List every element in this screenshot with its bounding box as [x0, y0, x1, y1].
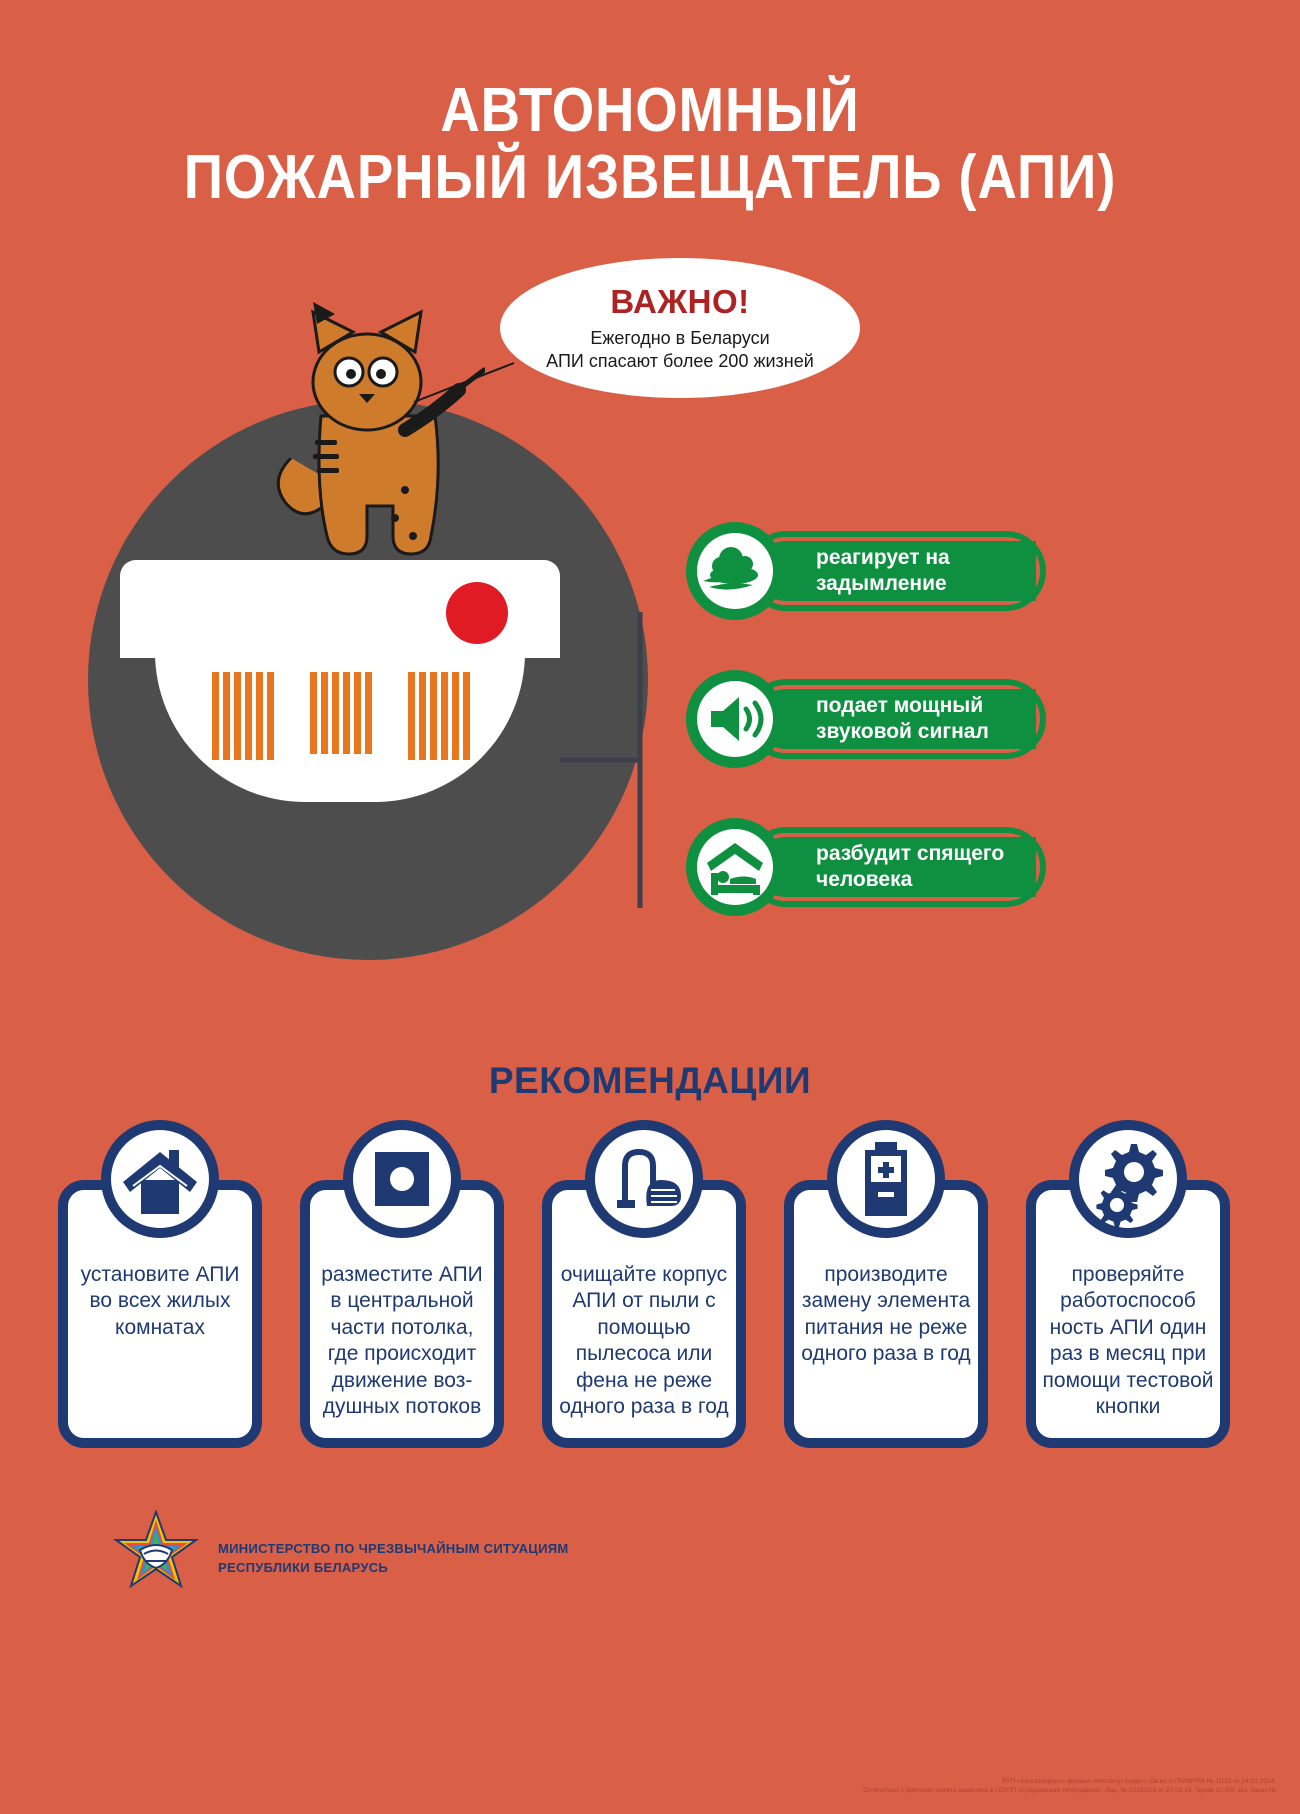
feature-line-2: звуковой сигнал — [816, 720, 989, 743]
cat-mascot-icon — [255, 290, 485, 590]
loudspeaker-icon — [697, 681, 773, 757]
connector-lines — [560, 590, 680, 930]
recommendation-text: очищайте корпус АПИ от пыли с помощью пы… — [558, 1262, 730, 1421]
important-callout-bubble: ВАЖНО! Ежегодно в Беларуси АПИ спасают б… — [500, 258, 860, 398]
house-icon — [111, 1130, 209, 1228]
recommendation-badge — [585, 1120, 703, 1238]
ministry-name: МИНИСТЕРСТВО ПО ЧРЕЗВЫЧАЙНЫМ СИТУАЦИЯМ Р… — [218, 1540, 569, 1578]
detector-vent-slot — [408, 672, 470, 760]
feature-line-1: подает мощный — [816, 694, 983, 717]
recommendation-badge — [1069, 1120, 1187, 1238]
title-line-1: АВТОНОМНЫЙ — [440, 76, 859, 145]
fineprint-line-2: Отпечатано с оригинал-макета заказчика в… — [516, 1786, 1276, 1796]
recommendation-text: установите АПИ во всех жилых комнатах — [74, 1262, 246, 1341]
recommendation-badge — [343, 1120, 461, 1238]
detector-vent-slot — [212, 672, 274, 760]
feature-line-1: разбудит спящего — [816, 842, 1004, 865]
feature-row-sound[interactable]: подает мощный звуковой сигнал — [686, 670, 1046, 768]
battery-icon — [837, 1130, 935, 1228]
feature-line-1: реагирует на — [816, 546, 950, 569]
gears-icon — [1079, 1130, 1177, 1228]
ministry-line-1: МИНИСТЕРСТВО ПО ЧРЕЗВЫЧАЙНЫМ СИТУАЦИЯМ — [218, 1540, 569, 1559]
recommendation-cards: установите АПИ во всех жилых комнатах ра… — [58, 1120, 1248, 1450]
smoke-cloud-icon — [697, 533, 773, 609]
poster-canvas: АВТОНОМНЫЙ ПОЖАРНЫЙ ИЗВЕЩАТЕЛЬ (АПИ) — [0, 0, 1300, 1814]
ministry-line-2: РЕСПУБЛИКИ БЕЛАРУСЬ — [218, 1559, 569, 1578]
sleeping-person-icon — [697, 829, 773, 905]
detector-vent-slot — [310, 672, 372, 754]
fineprint-line-1: РУП «Белгазсервис» филиал «Институт изда… — [516, 1777, 1276, 1787]
feature-row-wake[interactable]: разбудит спящего человека — [686, 818, 1046, 916]
recommendations-heading: РЕКОМЕНДАЦИИ — [0, 1060, 1300, 1102]
callout-line-2: АПИ спасают более 200 жизней — [546, 350, 814, 373]
ceiling-detector-icon — [353, 1130, 451, 1228]
recommendation-text: производите замену элемента питания не р… — [800, 1262, 972, 1368]
imprint-fineprint: РУП «Белгазсервис» филиал «Институт изда… — [516, 1777, 1276, 1797]
vacuum-cleaner-icon — [595, 1130, 693, 1228]
recommendation-text: проверяйте работоспособ ность АПИ один р… — [1042, 1262, 1214, 1421]
feature-label-smoke: реагирует на задымление — [816, 540, 1046, 602]
speech-bubble-tail — [410, 360, 520, 405]
feature-line-2: задымление — [816, 572, 947, 595]
mchs-belarus-emblem — [110, 1510, 202, 1602]
callout-heading: ВАЖНО! — [610, 283, 749, 321]
feature-line-2: человека — [816, 868, 912, 891]
recommendation-text: разместите АПИ в центральной части потол… — [316, 1262, 488, 1421]
feature-label-sound: подает мощный звуковой сигнал — [816, 688, 1046, 750]
recommendation-badge — [101, 1120, 219, 1238]
smoke-detector-illustration — [120, 560, 560, 810]
feature-label-wake: разбудит спящего человека — [816, 836, 1046, 898]
callout-line-1: Ежегодно в Беларуси — [546, 327, 814, 350]
title-line-2: ПОЖАРНЫЙ ИЗВЕЩАТЕЛЬ (АПИ) — [78, 145, 1222, 212]
recommendation-badge — [827, 1120, 945, 1238]
detector-led-indicator — [446, 582, 508, 644]
feature-row-smoke[interactable]: реагирует на задымление — [686, 522, 1046, 620]
page-title: АВТОНОМНЫЙ ПОЖАРНЫЙ ИЗВЕЩАТЕЛЬ (АПИ) — [78, 78, 1222, 212]
